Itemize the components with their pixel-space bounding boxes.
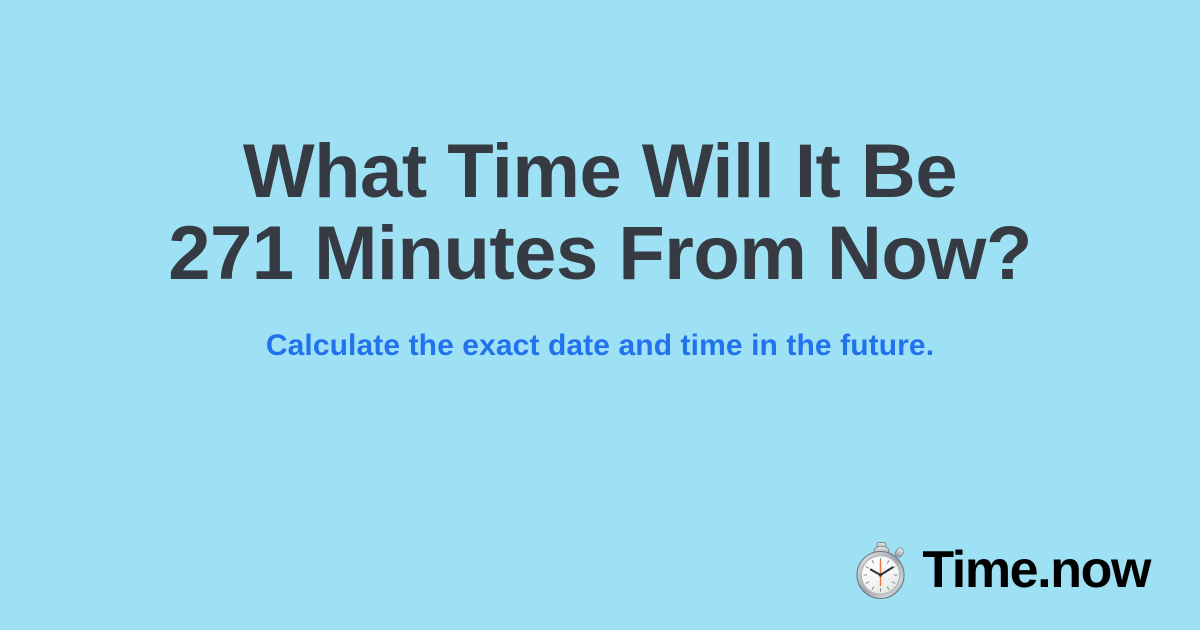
brand-name: Time.now (922, 542, 1150, 598)
stopwatch-icon (853, 540, 909, 600)
brand-logo: Time.now (853, 538, 1150, 602)
headline: What Time Will It Be 271 Minutes From No… (0, 131, 1200, 295)
headline-line-2: 271 Minutes From Now? (0, 213, 1200, 295)
page-title: What Time Will It Be 271 Minutes From No… (0, 131, 1200, 295)
share-card: What Time Will It Be 271 Minutes From No… (0, 0, 1200, 630)
subtitle-container: Calculate the exact date and time in the… (0, 327, 1200, 365)
subtitle: Calculate the exact date and time in the… (0, 327, 1200, 365)
headline-line-1: What Time Will It Be (0, 131, 1200, 213)
